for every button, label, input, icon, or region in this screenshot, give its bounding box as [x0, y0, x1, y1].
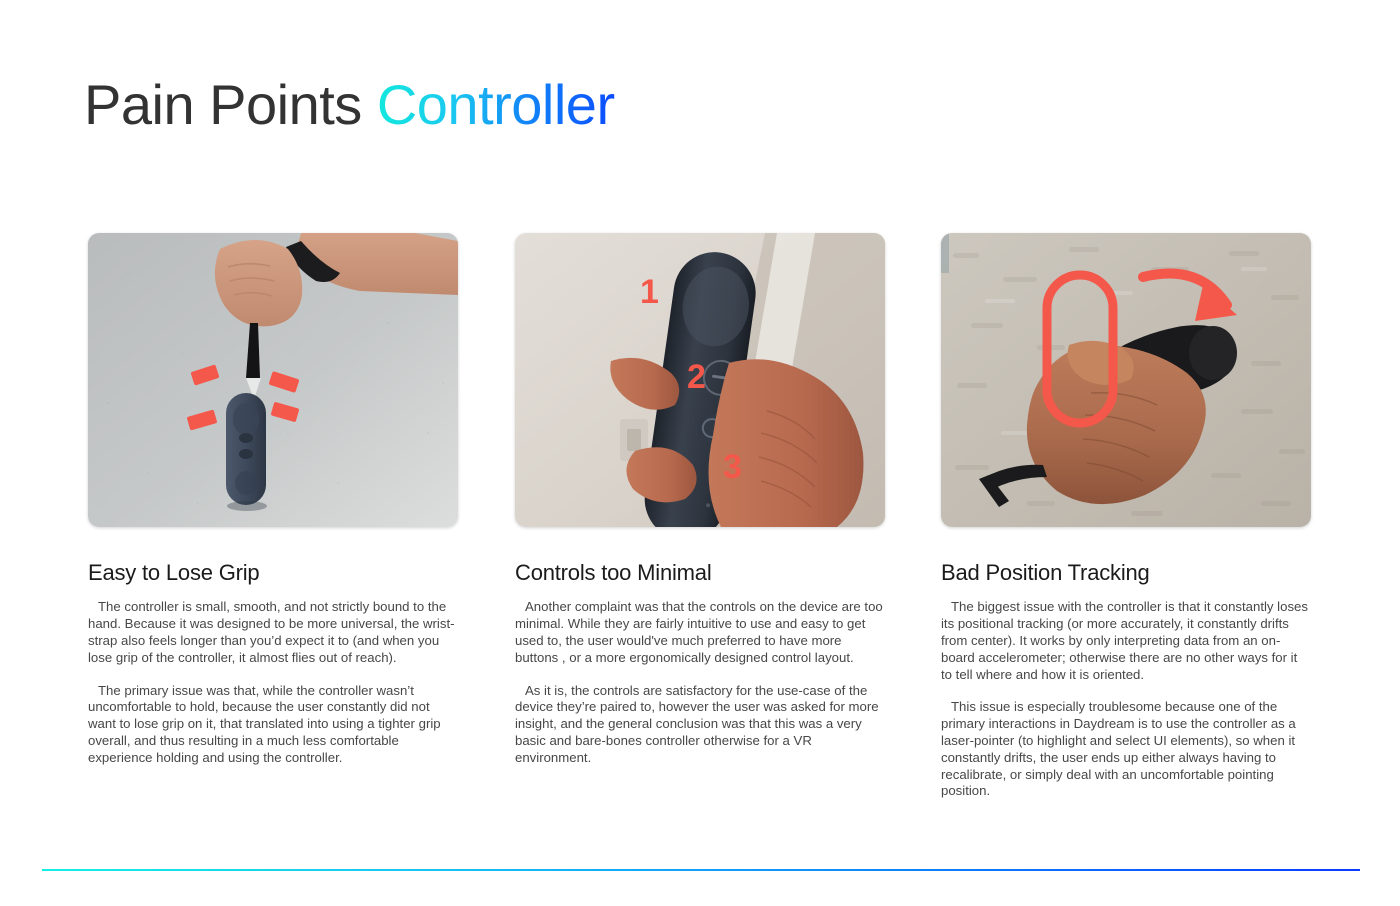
card-paragraph-1b: The primary issue was that, while the co…: [88, 683, 458, 767]
card-paragraph-1a: The controller is small, smooth, and not…: [88, 599, 458, 666]
pain-point-card-3: Bad Position Tracking The biggest issue …: [941, 233, 1311, 813]
card-paragraph-2b: As it is, the controls are satisfactory …: [515, 683, 885, 767]
footer-gradient-rule: [42, 869, 1360, 871]
pain-point-columns: Easy to Lose Grip The controller is smal…: [0, 0, 1400, 906]
callout-2: 2: [687, 358, 706, 396]
card-paragraph-3a: The biggest issue with the controller is…: [941, 599, 1311, 683]
card-title-2: Controls too Minimal: [515, 560, 885, 586]
photo-3-illustration: [941, 233, 1311, 527]
photo-easy-to-lose-grip: [88, 233, 458, 527]
photo-bad-position-tracking: [941, 233, 1311, 527]
callout-3: 3: [723, 448, 742, 486]
card-paragraph-2a: Another complaint was that the controls …: [515, 599, 885, 666]
photo-controls-too-minimal: 1 2 3: [515, 233, 885, 527]
photo-2-illustration: 1 2 3: [515, 233, 885, 527]
card-paragraph-3b: This issue is especially troublesome bec…: [941, 699, 1311, 800]
callout-1: 1: [640, 273, 659, 311]
photo-1-illustration: [88, 233, 458, 527]
pain-point-card-2: 1 2 3 Controls too Minimal Another compl…: [515, 233, 885, 780]
pain-point-card-1: Easy to Lose Grip The controller is smal…: [88, 233, 458, 780]
card-title-3: Bad Position Tracking: [941, 560, 1311, 586]
card-title-1: Easy to Lose Grip: [88, 560, 458, 586]
